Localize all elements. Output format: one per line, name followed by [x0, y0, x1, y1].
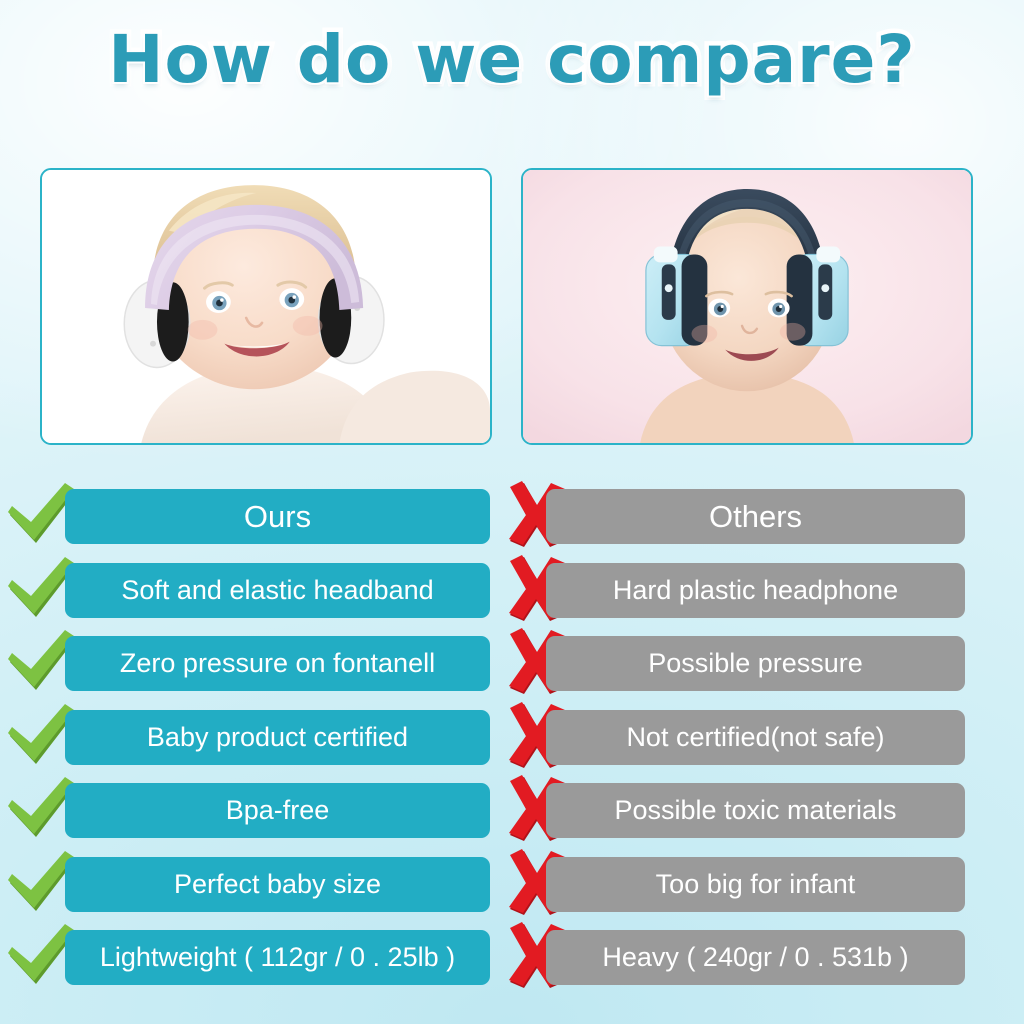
table-row: Soft and elastic headband Hard plastic h…	[0, 563, 1024, 637]
cell-label: Soft and elastic headband	[121, 577, 433, 604]
cell-ours: Lightweight ( 112gr / 0 . 25lb )	[65, 930, 490, 985]
table-row: Baby product certified Not certified(not…	[0, 710, 1024, 784]
cell-ours: Ours	[65, 489, 490, 544]
cell-others: Not certified(not safe)	[546, 710, 965, 765]
others-photo-frame	[521, 168, 973, 445]
cell-label: Lightweight ( 112gr / 0 . 25lb )	[100, 944, 455, 971]
table-row: Lightweight ( 112gr / 0 . 25lb ) Heavy (…	[0, 930, 1024, 1004]
others-baby-illustration	[523, 170, 971, 443]
cell-ours: Soft and elastic headband	[65, 563, 490, 618]
comparison-grid: Ours Others Soft and elastic headband Ha…	[0, 489, 1024, 1004]
cell-label: Ours	[244, 501, 311, 532]
cell-label: Hard plastic headphone	[613, 577, 898, 604]
table-row: Zero pressure on fontanell Possible pres…	[0, 636, 1024, 710]
cell-label: Baby product certified	[147, 724, 408, 751]
cell-others: Possible pressure	[546, 636, 965, 691]
ours-photo-frame	[40, 168, 492, 445]
cell-ours: Zero pressure on fontanell	[65, 636, 490, 691]
cell-label: Not certified(not safe)	[626, 724, 884, 751]
cell-label: Zero pressure on fontanell	[120, 650, 435, 677]
cell-label: Heavy ( 240gr / 0 . 531b )	[602, 944, 908, 971]
cell-others: Heavy ( 240gr / 0 . 531b )	[546, 930, 965, 985]
infographic-canvas: How do we compare?	[0, 0, 1024, 1024]
title-area: How do we compare?	[0, 24, 1024, 95]
others-photo-image	[523, 170, 971, 443]
cell-label: Perfect baby size	[174, 871, 381, 898]
cell-label: Too big for infant	[656, 871, 856, 898]
cell-others: Too big for infant	[546, 857, 965, 912]
page-title: How do we compare?	[108, 24, 915, 95]
cell-others: Possible toxic materials	[546, 783, 965, 838]
cell-ours: Baby product certified	[65, 710, 490, 765]
cell-label: Possible toxic materials	[614, 797, 896, 824]
ours-baby-illustration	[42, 170, 490, 443]
cell-label: Possible pressure	[648, 650, 863, 677]
table-row: Perfect baby size Too big for infant	[0, 857, 1024, 931]
cell-label: Bpa-free	[226, 797, 330, 824]
ours-photo-image	[42, 170, 490, 443]
cell-others: Others	[546, 489, 965, 544]
cell-others: Hard plastic headphone	[546, 563, 965, 618]
table-row: Bpa-free Possible toxic materials	[0, 783, 1024, 857]
table-row: Ours Others	[0, 489, 1024, 563]
cell-label: Others	[709, 501, 802, 532]
cell-ours: Bpa-free	[65, 783, 490, 838]
cell-ours: Perfect baby size	[65, 857, 490, 912]
